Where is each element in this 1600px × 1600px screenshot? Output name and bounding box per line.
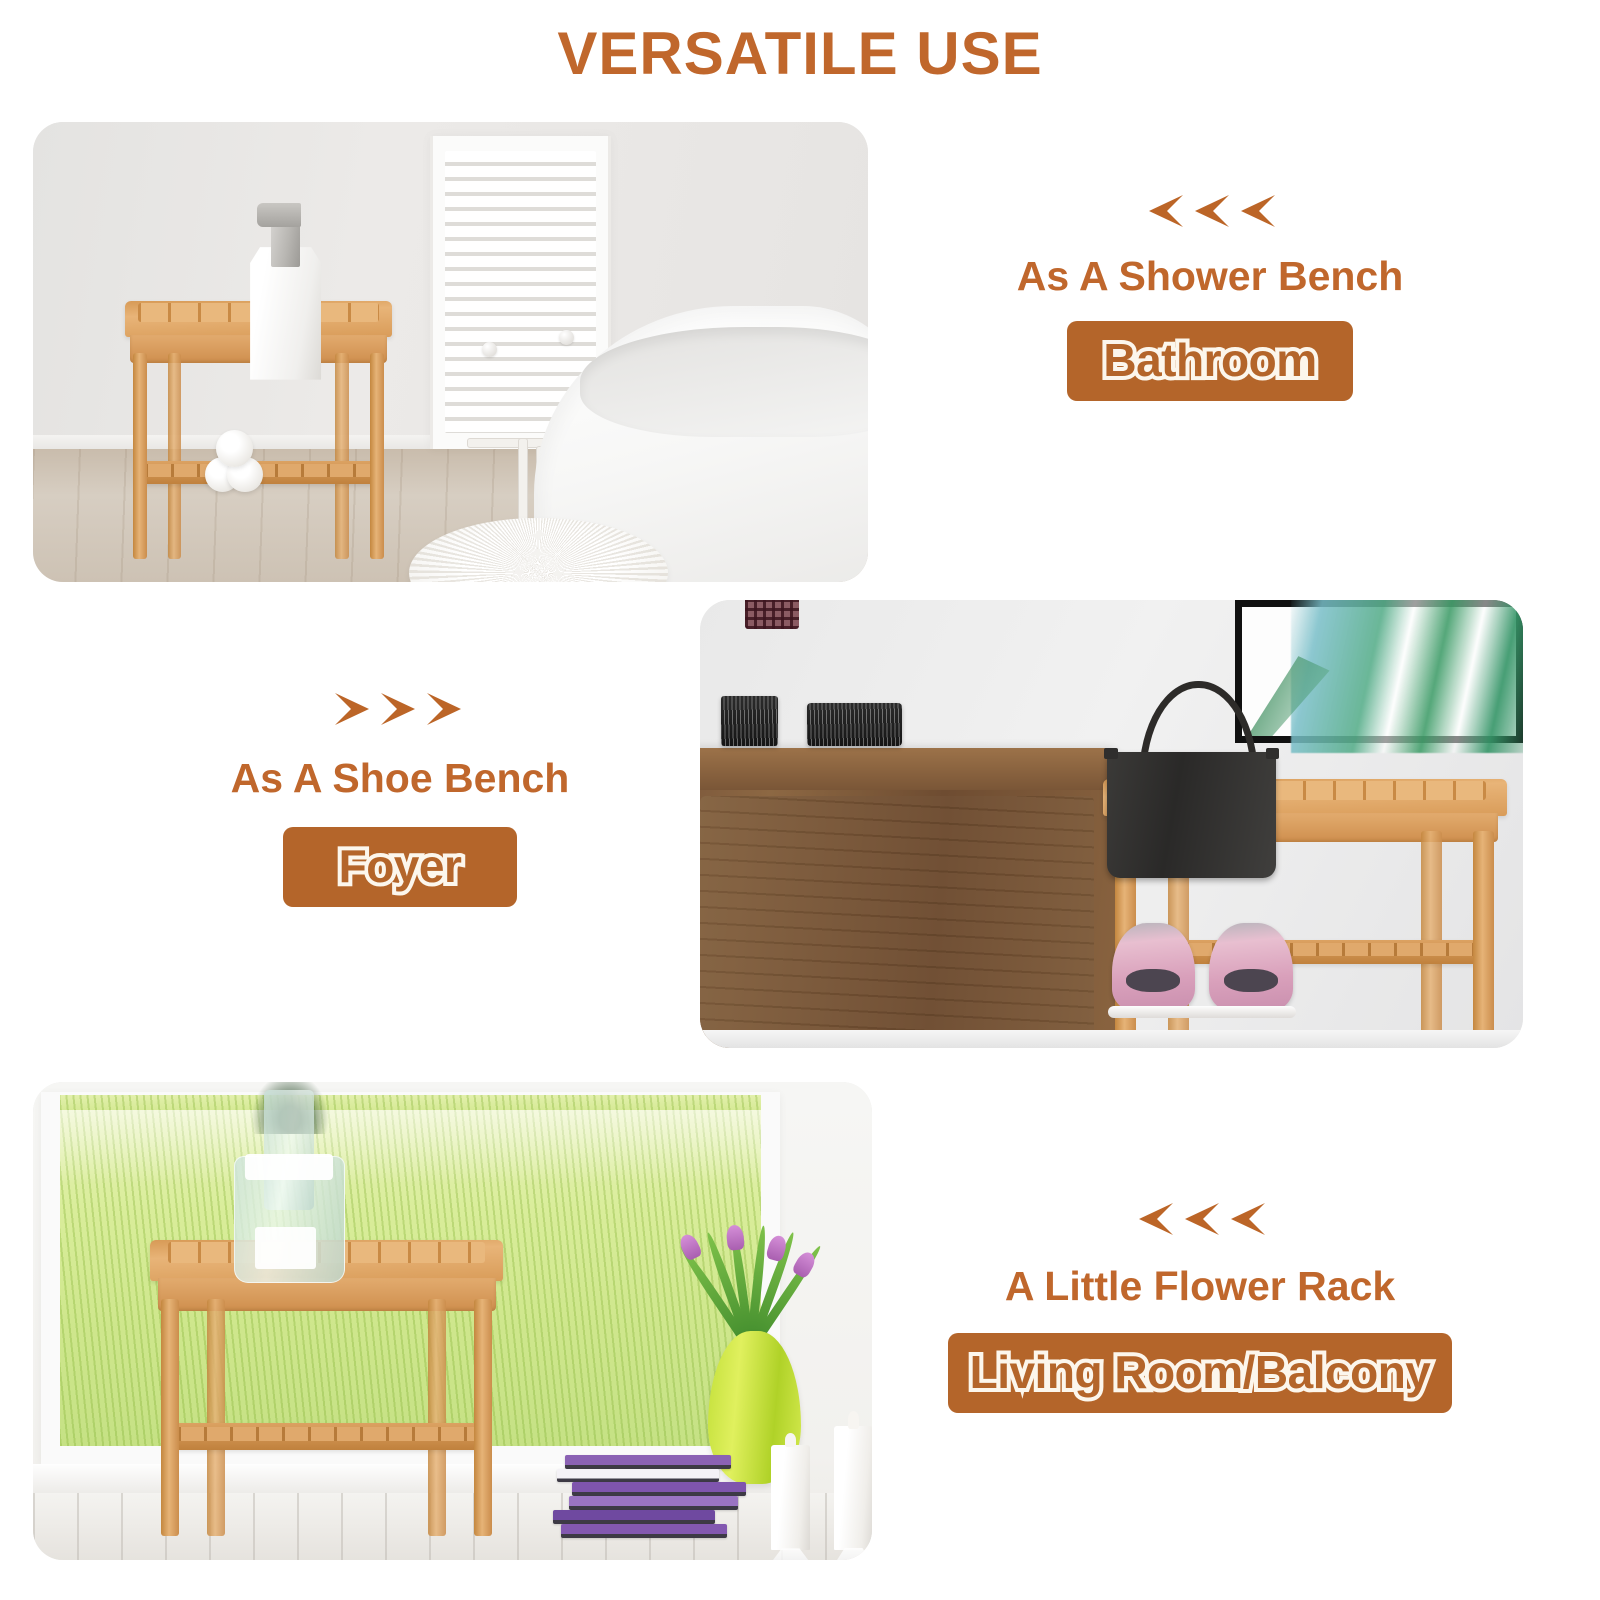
vase-ribbon-bow [245, 1154, 332, 1180]
callout-flower-rack: A Little Flower Rack Living Room/Balcony [900, 1198, 1500, 1413]
arrow-left-icon [1133, 1202, 1175, 1236]
rolled-towels [205, 435, 285, 492]
foyer-baseboard [700, 1030, 1523, 1048]
arrow-left-icon [1179, 1202, 1221, 1236]
slipper [1209, 923, 1292, 1013]
foyer-scene [700, 600, 1523, 1048]
pipe [518, 438, 528, 529]
bench-leg [335, 353, 349, 559]
book [572, 1482, 746, 1496]
arrow-right-icon [333, 692, 375, 726]
section-heading: A Little Flower Rack [900, 1264, 1500, 1309]
arrow-left-icon [1225, 1202, 1267, 1236]
section-heading: As A Shoe Bench [120, 756, 680, 801]
bench-leg [161, 1299, 179, 1536]
book [553, 1510, 715, 1524]
arrow-right-icon [379, 692, 421, 726]
bench-leg [207, 1299, 225, 1536]
photo-shoe-bench-foyer [700, 600, 1523, 1048]
handbag-body [1107, 752, 1276, 878]
book [569, 1496, 739, 1510]
badge-label: Foyer [339, 843, 462, 889]
book [565, 1455, 731, 1469]
framed-leaf-artwork [1235, 600, 1523, 743]
badge-label: Living Room/Balcony [970, 1349, 1431, 1395]
badge-foyer: Foyer [283, 827, 518, 907]
arrows-left-group [930, 190, 1490, 232]
radiator-knob [559, 330, 574, 345]
badge-label: Bathroom [1103, 337, 1316, 383]
bench-leg [1473, 831, 1494, 1039]
book [561, 1524, 727, 1538]
photo-flower-rack-living-room [33, 1082, 872, 1560]
pink-slippers [1112, 923, 1293, 1013]
callout-shoe-bench: As A Shoe Bench Foyer [120, 688, 680, 907]
pillar-candle [834, 1426, 872, 1550]
badge-bathroom: Bathroom [1067, 321, 1352, 401]
bench-leg [168, 353, 182, 559]
section-heading: As A Shower Bench [930, 254, 1490, 299]
arrows-right-group [120, 688, 680, 730]
bench-lower-shelf [165, 1423, 489, 1450]
dispenser-neck [271, 223, 299, 267]
bench-leg [428, 1299, 446, 1536]
flower-petal [725, 1225, 744, 1251]
black-woven-basket [721, 696, 779, 745]
flower-petal [677, 1232, 703, 1262]
bathroom-scene [33, 122, 868, 582]
badge-living-room-balcony: Living Room/Balcony [948, 1333, 1453, 1413]
arrow-left-icon [1143, 194, 1185, 228]
vase-neck [264, 1090, 314, 1210]
living-room-scene [33, 1082, 872, 1560]
bench-leg [133, 353, 147, 559]
arrow-left-icon [1235, 194, 1277, 228]
bamboo-bench [150, 1240, 502, 1536]
arrows-left-group [900, 1198, 1500, 1240]
bench-leg [474, 1299, 492, 1536]
stacked-books [553, 1455, 746, 1536]
bench-leg [370, 353, 384, 559]
page-title: VERSATILE USE [0, 22, 1600, 85]
book [557, 1469, 719, 1483]
bench-leg [1421, 831, 1442, 1039]
vase-label [255, 1227, 316, 1269]
rolled-towel [216, 430, 253, 467]
plaid-fabric [745, 600, 798, 629]
callout-shower-bench: As A Shower Bench Bathroom [930, 190, 1490, 401]
slipper [1112, 923, 1195, 1013]
arrow-left-icon [1189, 194, 1231, 228]
photo-shower-bench-bathroom [33, 122, 868, 582]
radiator-knob [482, 342, 497, 357]
slipper-soles [1108, 1006, 1296, 1019]
wood-cabinet [700, 748, 1120, 1048]
arrow-right-icon [425, 692, 467, 726]
dispenser-pump [257, 203, 301, 227]
soap-dispenser [250, 196, 321, 380]
glass-flower-vase [234, 1082, 343, 1283]
black-woven-basket [807, 703, 902, 746]
black-handbag [1107, 681, 1276, 878]
pillar-candle [771, 1445, 810, 1550]
